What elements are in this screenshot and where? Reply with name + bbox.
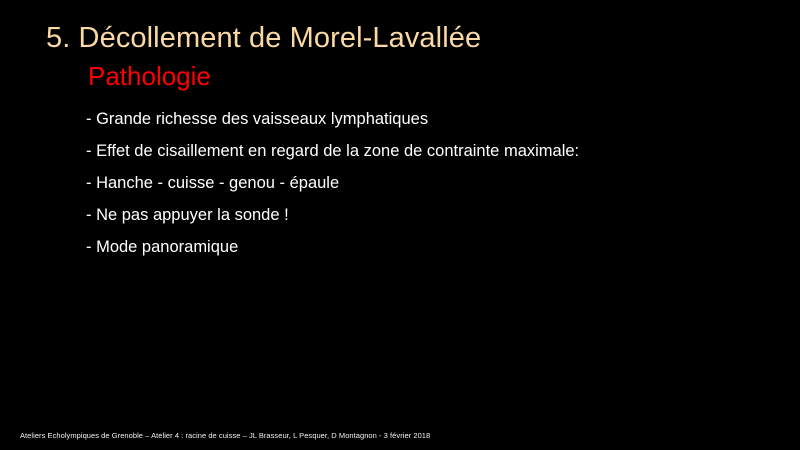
slide-subtitle: Pathologie xyxy=(88,59,766,93)
bullet-item: - Grande richesse des vaisseaux lymphati… xyxy=(86,103,776,135)
bullet-item: - Effet de cisaillement en regard de la … xyxy=(86,135,776,167)
bullet-item: - Ne pas appuyer la sonde ! xyxy=(86,199,776,231)
slide-title: 5. Décollement de Morel-Lavallée xyxy=(46,20,766,56)
slide-bullet-list: - Grande richesse des vaisseaux lymphati… xyxy=(86,103,776,263)
presentation-slide: 5. Décollement de Morel-Lavallée Patholo… xyxy=(0,0,800,450)
slide-header: 5. Décollement de Morel-Lavallée Patholo… xyxy=(46,20,766,93)
slide-footer: Ateliers Echolympiques de Grenoble – Ate… xyxy=(20,430,430,441)
bullet-item: - Mode panoramique xyxy=(86,231,776,263)
bullet-item: - Hanche - cuisse - genou - épaule xyxy=(86,167,776,199)
